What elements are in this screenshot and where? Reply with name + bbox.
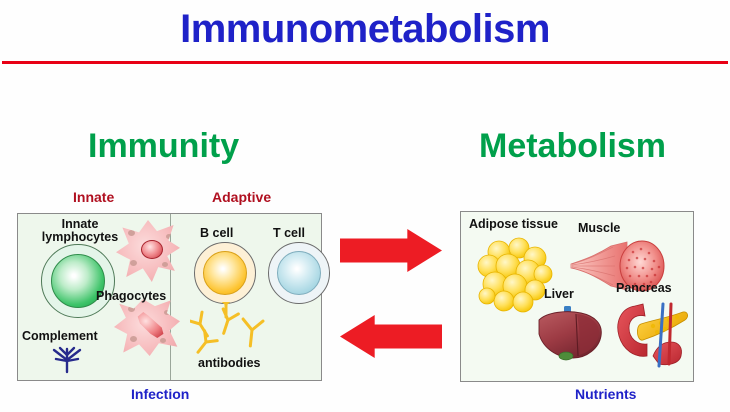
green-lymphocyte-cell-icon: [41, 244, 115, 318]
antibodies-label: antibodies: [198, 357, 261, 370]
pancreas-organ-illustration-icon: [613, 298, 691, 370]
liver-organ-illustration-icon: [533, 304, 605, 364]
phagocyte-nucleus: [141, 240, 163, 259]
nutrients-label: Nutrients: [575, 386, 636, 402]
arrow-immunity-to-metabolism: [340, 229, 442, 272]
title-divider-rule: [2, 61, 728, 64]
phagocyte-granule: [128, 230, 135, 236]
phagocyte-granule: [162, 262, 168, 267]
t-cell-label: T cell: [273, 227, 305, 240]
immunity-heading: Immunity: [88, 127, 239, 166]
pancreas-label: Pancreas: [616, 282, 672, 295]
phagocyte-granule: [130, 336, 137, 342]
page-title: Immunometabolism: [0, 4, 730, 54]
b-cell-label: B cell: [200, 227, 233, 240]
complement-protein-symbol-icon: [50, 346, 84, 374]
adipose-tissue-label: Adipose tissue: [469, 218, 558, 231]
b-cell-nucleus: [203, 251, 247, 295]
arrow-metabolism-to-immunity: [340, 315, 442, 358]
muscle-label: Muscle: [578, 222, 620, 235]
blue-t-cell-icon: [268, 242, 330, 304]
metabolism-panel: Adipose tissue Muscle: [460, 211, 694, 382]
phagocyte-granule: [128, 306, 135, 312]
metabolism-heading: Metabolism: [479, 127, 666, 166]
t-cell-nucleus: [277, 251, 321, 295]
infection-label: Infection: [131, 386, 189, 402]
adaptive-label: Adaptive: [212, 189, 271, 205]
liver-label: Liver: [544, 288, 574, 301]
innate-label: Innate: [73, 189, 114, 205]
phagocyte-granule: [130, 260, 137, 266]
innate-lymphocytes-label: Innate lymphocytes: [38, 218, 122, 244]
phagocyte-granule: [160, 338, 166, 343]
immunity-panel: Innate lymphocytes Phagocytes Complement…: [17, 213, 322, 381]
phagocyte-nucleus: [136, 312, 164, 338]
yellow-b-cell-icon: [194, 242, 256, 304]
innate-adaptive-divider: [170, 214, 171, 380]
complement-label: Complement: [22, 330, 98, 343]
phagocyte-granule: [166, 234, 172, 239]
phagocytes-label: Phagocytes: [96, 290, 166, 303]
yellow-antibody-y-shapes-icon: [190, 302, 290, 358]
